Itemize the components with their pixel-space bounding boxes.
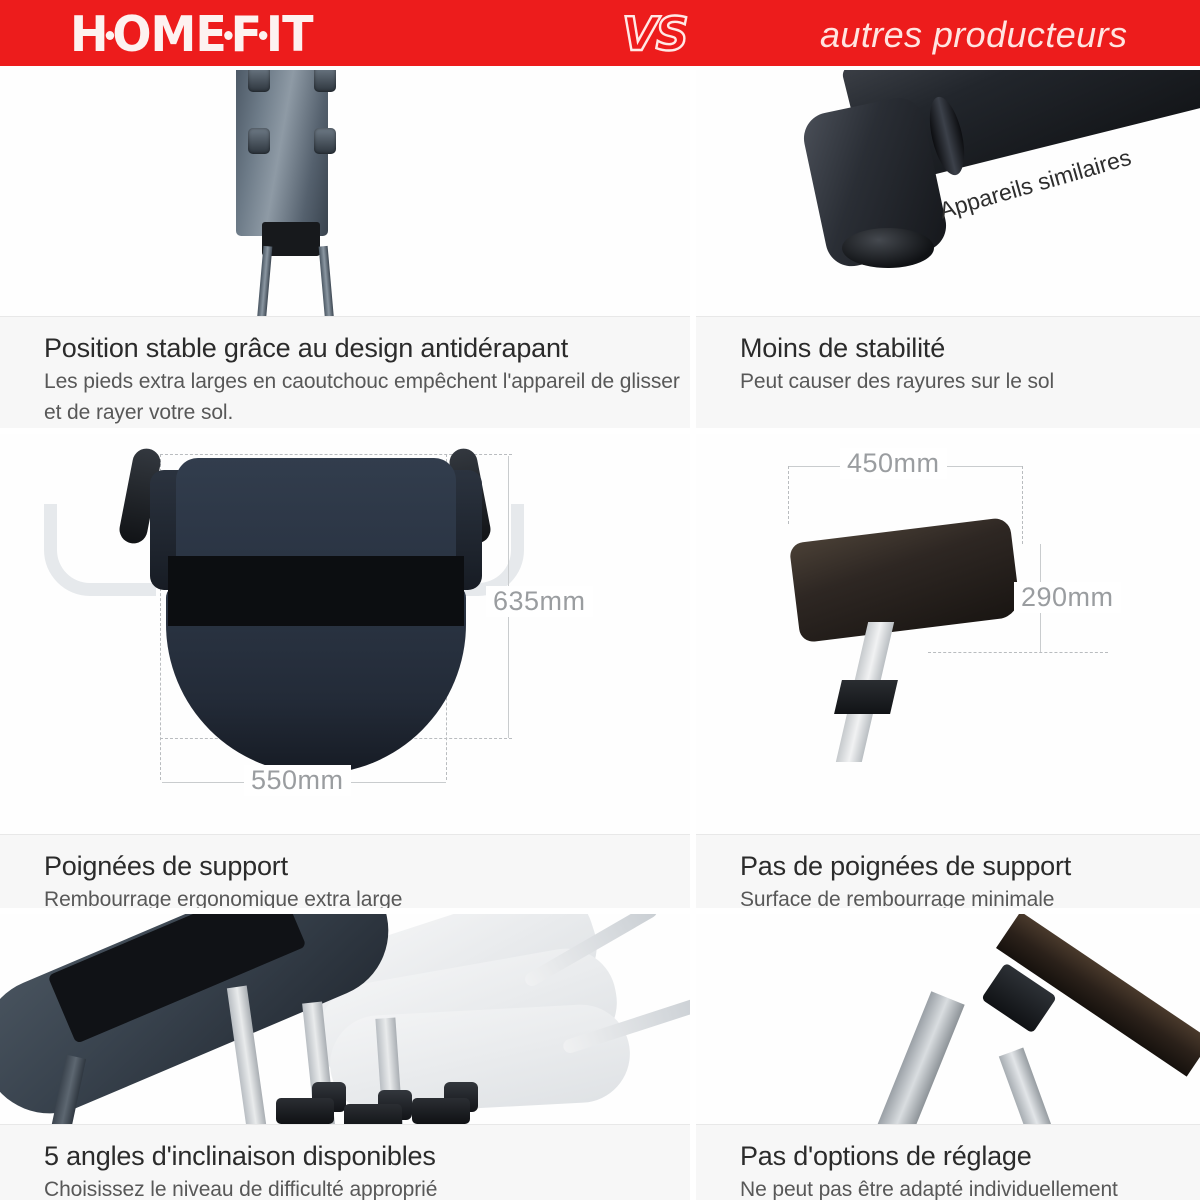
caption-title: Pas d'options de réglage xyxy=(740,1139,1200,1173)
caption-subtitle: Ne peut pas être adapté individuellement xyxy=(740,1175,1200,1200)
art-small-pad: 450mm 290mm xyxy=(696,434,1200,834)
bench-foot-3 xyxy=(412,1098,470,1124)
vs-badge: VS xyxy=(622,8,687,60)
column-divider xyxy=(690,70,696,1200)
caption-title: Poignées de support xyxy=(44,849,690,883)
dimension-label-width: 450mm xyxy=(840,448,947,479)
frame-main-post xyxy=(860,991,965,1124)
caption-subtitle: Peut causer des rayures sur le sol xyxy=(740,367,1200,396)
bolt-mid-left xyxy=(248,128,270,154)
cell-adjust-theirs: Pas d'options de réglage Ne peut pas êtr… xyxy=(696,914,1200,1200)
pad-foot xyxy=(834,680,898,714)
caption-handles-ours: Poignées de support Rembourrage ergonomi… xyxy=(0,834,690,910)
image-padded-seat: 635mm 550mm xyxy=(0,434,690,834)
dimension-label-height: 635mm xyxy=(486,586,593,617)
guide-dashed-bottom xyxy=(928,652,1108,653)
guide-dashed-left xyxy=(788,466,789,524)
caption-title: 5 angles d'inclinaison disponibles xyxy=(44,1139,690,1173)
comparison-infographic: HOMEFIT VS autres producteurs xyxy=(0,0,1200,1200)
image-fixed-frame xyxy=(696,914,1200,1124)
ghost-angle-3 xyxy=(328,1002,633,1116)
art-stabilizer-bar xyxy=(0,70,690,316)
bolt-top-right xyxy=(314,70,336,92)
bolt-top-left xyxy=(248,70,270,92)
bench-foot-2 xyxy=(344,1104,402,1124)
support-leg-left xyxy=(253,246,273,316)
cell-handles-ours: 635mm 550mm Poignées de support Rembourr… xyxy=(0,434,690,910)
caption-handles-theirs: Pas de poignées de support Surface de re… xyxy=(696,834,1200,910)
support-leg-right xyxy=(319,246,339,316)
dimension-label-height: 290mm xyxy=(1014,582,1121,613)
image-stabilizer-bar xyxy=(0,70,690,316)
bench-foot-1 xyxy=(276,1098,334,1124)
seat-black-strap xyxy=(168,556,464,626)
caption-subtitle: Choisissez le niveau de difficulté appro… xyxy=(44,1175,690,1200)
small-round-foot xyxy=(842,228,934,268)
art-padded-seat: 635mm 550mm xyxy=(0,434,690,834)
caption-subtitle: Surface de rembourrage minimale xyxy=(740,885,1200,910)
pad-surface xyxy=(789,517,1022,643)
bolt-mid-right xyxy=(314,128,336,154)
header-bar: HOMEFIT VS autres producteurs xyxy=(0,0,1200,70)
row-divider-2 xyxy=(0,908,1200,914)
comparison-grid: Position stable grâce au design antidéra… xyxy=(0,70,1200,1200)
dimension-label-width: 550mm xyxy=(244,765,351,796)
art-incline-angles xyxy=(0,914,690,1124)
caption-title: Pas de poignées de support xyxy=(740,849,1200,883)
cell-adjust-ours: 5 angles d'inclinaison disponibles Chois… xyxy=(0,914,690,1200)
image-incline-angles xyxy=(0,914,690,1124)
caption-subtitle-line2: et de rayer votre sol. xyxy=(44,398,690,427)
caption-subtitle: Rembourrage ergonomique extra large xyxy=(44,885,690,910)
frame-diagonal-brace xyxy=(999,1048,1073,1124)
competitor-label: autres producteurs xyxy=(820,12,1127,58)
image-competitor-foot: Appareils similaires xyxy=(696,70,1200,316)
art-competitor-foot: Appareils similaires xyxy=(696,70,1200,316)
guide-dashed-right xyxy=(1022,466,1023,544)
cell-stability-theirs: Appareils similaires Moins de stabilité … xyxy=(696,70,1200,430)
caption-adjust-theirs: Pas d'options de réglage Ne peut pas êtr… xyxy=(696,1124,1200,1200)
caption-title: Position stable grâce au design antidéra… xyxy=(44,331,690,365)
cell-stability-ours: Position stable grâce au design antidéra… xyxy=(0,70,690,430)
caption-stability-ours: Position stable grâce au design antidéra… xyxy=(0,316,690,430)
logo-letters-it: IT xyxy=(266,6,313,63)
logo-letters-ome: OME xyxy=(112,6,226,63)
image-small-pad: 450mm 290mm xyxy=(696,434,1200,834)
row-divider-1 xyxy=(0,428,1200,434)
cell-handles-theirs: 450mm 290mm Pas de poignées de support S… xyxy=(696,434,1200,910)
caption-subtitle-line1: Les pieds extra larges en caoutchouc emp… xyxy=(44,367,690,396)
brand-logo: HOMEFIT xyxy=(70,6,313,64)
caption-stability-theirs: Moins de stabilité Peut causer des rayur… xyxy=(696,316,1200,430)
caption-adjust-ours: 5 angles d'inclinaison disponibles Chois… xyxy=(0,1124,690,1200)
logo-letter-f: F xyxy=(231,6,262,63)
art-fixed-frame xyxy=(696,914,1200,1124)
caption-title: Moins de stabilité xyxy=(740,331,1200,365)
logo-letter-h: H xyxy=(70,6,108,63)
